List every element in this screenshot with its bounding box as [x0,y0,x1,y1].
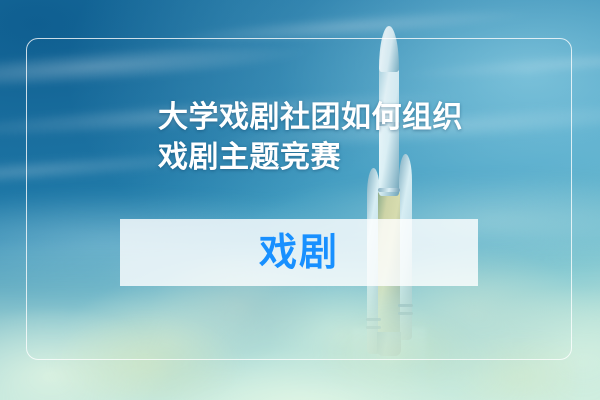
article-cover-card: 大学戏剧社团如何组织戏剧主题竞赛 戏剧 [0,0,600,400]
background-photo [0,0,600,400]
photo-color-tint [0,0,600,400]
category-tag-label: 戏剧 [259,234,339,272]
page-title: 大学戏剧社团如何组织戏剧主题竞赛 [158,98,468,178]
category-tag-bar[interactable]: 戏剧 [120,219,478,286]
